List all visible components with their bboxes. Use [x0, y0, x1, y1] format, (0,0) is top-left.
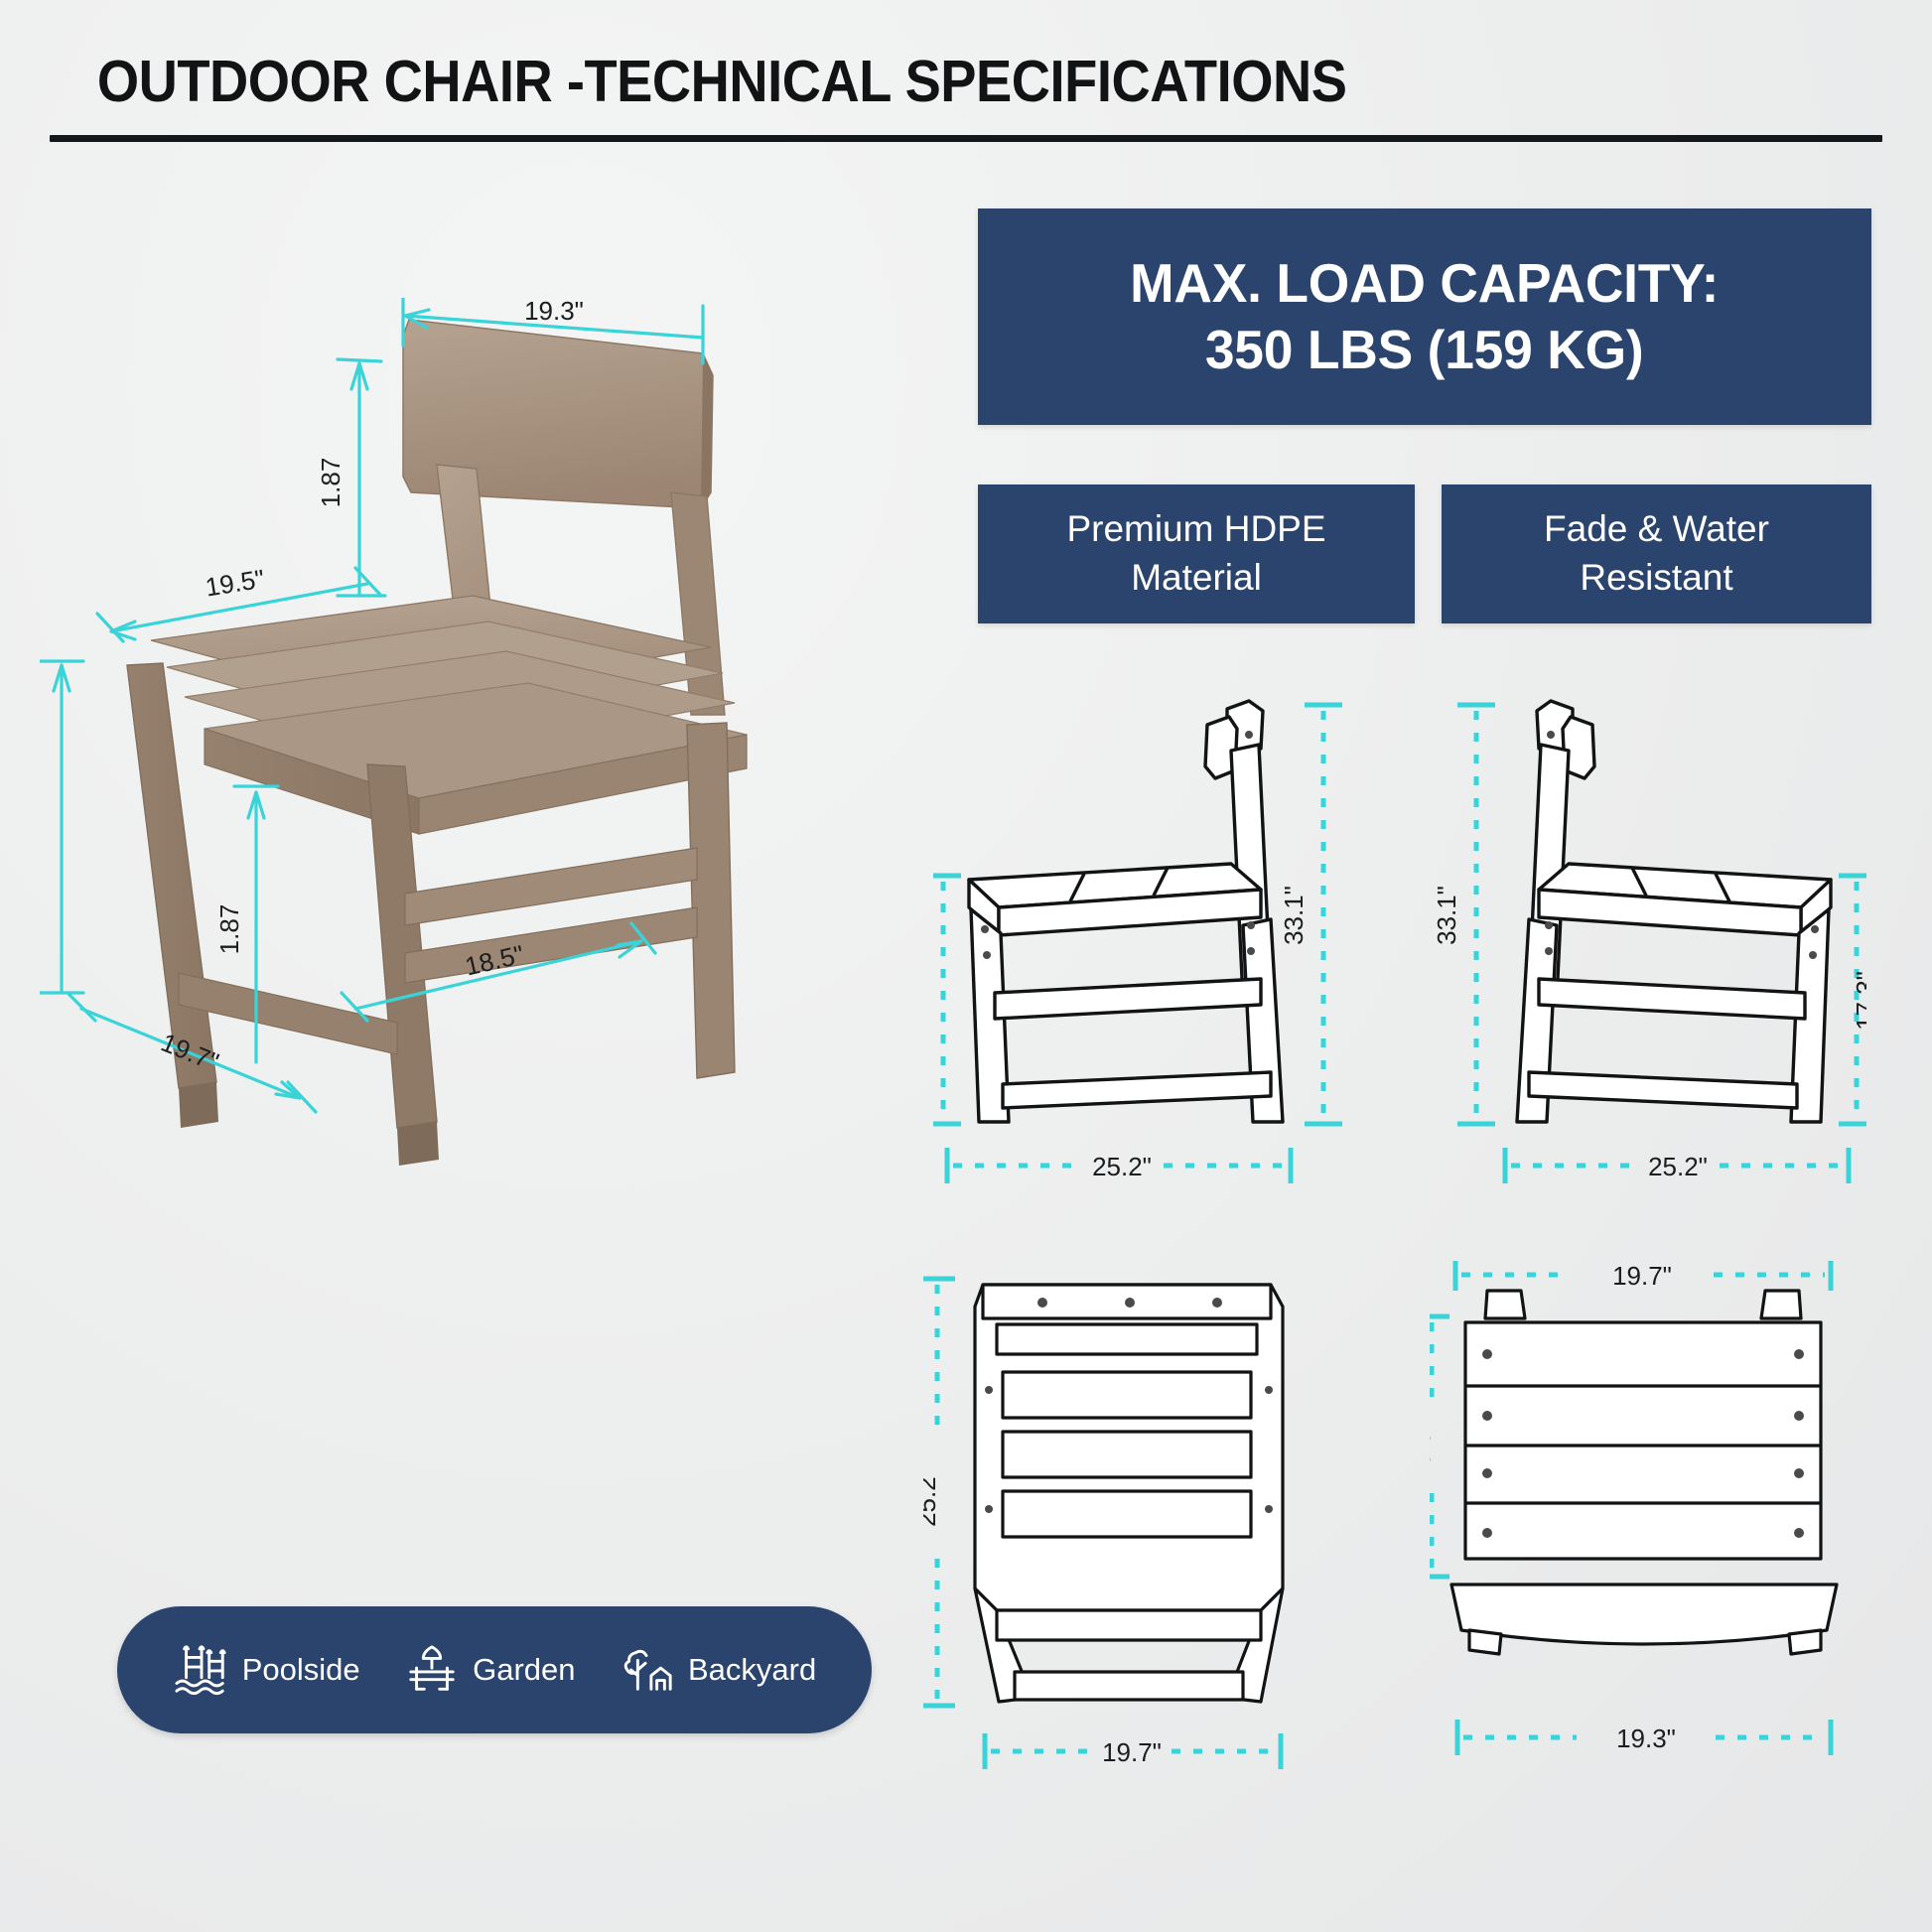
- ortho-side-view-left: 33.1" 17.3" 25.2": [933, 695, 1360, 1191]
- usage-item-poolside: Poolside: [173, 1643, 360, 1697]
- dim-total-height-line: [1305, 705, 1342, 1124]
- side-view-right-outline: [1517, 701, 1831, 1122]
- dim-label-total-depth: 25.2": [1092, 1152, 1152, 1181]
- dim-total-height-line-r: [1457, 705, 1495, 1124]
- top-view-outline: [975, 1285, 1283, 1702]
- backyard-tree-house-icon: [619, 1643, 676, 1697]
- dim-backrest-width: 19.3": [524, 298, 584, 326]
- dim-label-total-height: 33.1": [1279, 886, 1309, 945]
- ortho-side-view-right: 33.1" 17.3" 25.2": [1430, 695, 1866, 1191]
- dim-label-front-topwidth: 19.7": [1612, 1261, 1672, 1291]
- dim-backrest-height: 1.87: [316, 458, 345, 508]
- dim-label-front-bottomwidth: 19.3": [1616, 1724, 1676, 1753]
- front-view-outline: [1451, 1291, 1837, 1654]
- dim-label-top-depth: 25.2": [923, 1467, 941, 1527]
- load-capacity-line-1: MAX. LOAD CAPACITY:: [1130, 250, 1719, 317]
- dim-label-front-height: 18.5": [1430, 1422, 1436, 1481]
- usage-label-poolside: Poolside: [242, 1652, 360, 1688]
- dim-label-total-height-r: 33.1": [1432, 886, 1461, 945]
- hero-chair-illustration: 19.3" 1.87 19.5" 1.87" 1.87 18.5" 19.7": [40, 298, 913, 1420]
- max-load-capacity-box: MAX. LOAD CAPACITY: 350 LBS (159 KG): [978, 208, 1871, 425]
- infographic-page: OUTDOOR CHAIR -TECHNICAL SPECIFICATIONS …: [0, 0, 1932, 1932]
- header: OUTDOOR CHAIR -TECHNICAL SPECIFICATIONS: [50, 52, 1882, 142]
- ortho-front-view: 19.7" 18.5" 19.3": [1430, 1261, 1876, 1787]
- usage-label-backyard: Backyard: [688, 1652, 816, 1688]
- page-title: OUTDOOR CHAIR -TECHNICAL SPECIFICATIONS: [50, 52, 1735, 113]
- dim-seat-height: 1.87: [214, 904, 244, 955]
- dim-label-total-depth-r: 25.2": [1648, 1152, 1708, 1181]
- chair-3d-geometry: [127, 320, 747, 1166]
- load-capacity-line-2: 350 LBS (159 KG): [1205, 317, 1644, 383]
- side-view-left-outline: [969, 701, 1283, 1122]
- title-divider: [50, 135, 1882, 142]
- usage-item-backyard: Backyard: [619, 1643, 816, 1697]
- pool-ladder-icon: [173, 1643, 230, 1697]
- ortho-top-view: 25.2" 19.7": [923, 1261, 1360, 1787]
- dim-label-seat-height-r: 17.3": [1851, 971, 1866, 1031]
- feature-box-material: Premium HDPE Material: [978, 484, 1415, 623]
- dim-label-top-width: 19.7": [1102, 1737, 1162, 1767]
- feature-label-0: Premium HDPE Material: [978, 505, 1415, 603]
- dim-overall-height: 1.87": [40, 804, 44, 864]
- feature-label-1: Fade & Water Resistant: [1442, 505, 1871, 603]
- usage-scenarios-badge: Poolside Garden: [117, 1606, 872, 1733]
- dim-seat-width: 19.5": [204, 564, 267, 603]
- usage-item-garden: Garden: [403, 1643, 575, 1697]
- feature-box-resistance: Fade & Water Resistant: [1442, 484, 1871, 623]
- garden-bench-icon: [403, 1643, 461, 1697]
- dim-seat-height-line: [933, 876, 961, 1124]
- usage-label-garden: Garden: [473, 1652, 575, 1688]
